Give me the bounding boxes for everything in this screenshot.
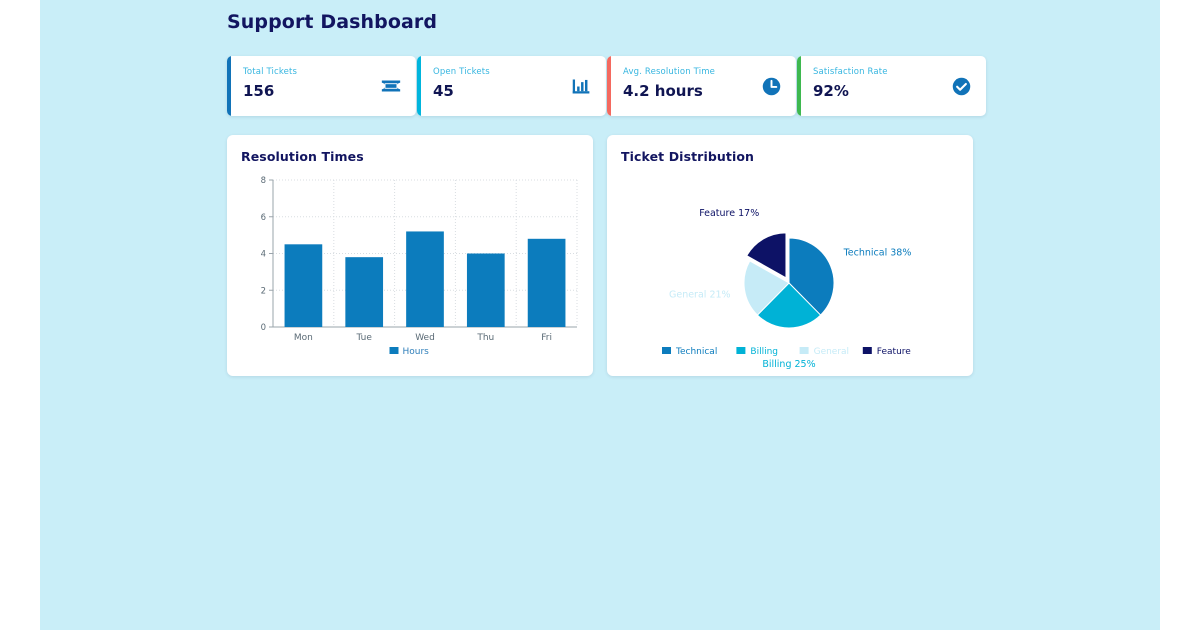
pie-chart[interactable]: Technical 38%Billing 25%General 21%Featu…: [607, 165, 973, 376]
pie-label-billing: Billing 25%: [762, 359, 815, 370]
svg-text:4: 4: [261, 250, 266, 260]
panel-resolution-times: Resolution Times 02468MonTueWedThuFriHou…: [227, 135, 593, 376]
clock-icon: [760, 75, 782, 97]
stat-card-avg-resolution-time[interactable]: Avg. Resolution Time 4.2 hours: [607, 56, 796, 116]
stat-card-open-tickets[interactable]: Open Tickets 45: [417, 56, 606, 116]
legend-label-technical: Technical: [675, 347, 717, 357]
svg-text:Mon: Mon: [294, 333, 313, 343]
legend-label-billing: Billing: [750, 347, 778, 357]
stat-value: 156: [243, 82, 274, 100]
ticket-icon: [380, 75, 402, 97]
bar-thu: [467, 254, 505, 328]
bar-tue: [345, 257, 383, 327]
dashboard-root: Support Dashboard Total Tickets 156 Open…: [40, 0, 1160, 630]
check-circle-icon: [950, 75, 972, 97]
pie-label-technical: Technical 38%: [843, 247, 912, 258]
stat-label: Satisfaction Rate: [813, 67, 888, 77]
svg-text:Wed: Wed: [415, 333, 435, 343]
legend-label-feature: Feature: [877, 347, 911, 357]
stat-value: 92%: [813, 82, 849, 100]
stat-card-total-tickets[interactable]: Total Tickets 156: [227, 56, 416, 116]
pie-label-general: General 21%: [669, 289, 731, 300]
svg-text:2: 2: [261, 286, 266, 296]
stat-value: 45: [433, 82, 454, 100]
stat-label: Total Tickets: [243, 67, 297, 77]
bar-mon: [285, 244, 323, 327]
legend-label-general: General: [814, 347, 849, 357]
bar-chart-icon: [570, 75, 592, 97]
card-accent-bar: [417, 56, 421, 116]
svg-text:Fri: Fri: [541, 333, 552, 343]
svg-text:Thu: Thu: [476, 333, 494, 343]
card-accent-bar: [607, 56, 611, 116]
bar-wed: [406, 231, 444, 327]
bar-chart[interactable]: 02468MonTueWedThuFriHours: [227, 165, 593, 376]
svg-text:8: 8: [261, 176, 266, 186]
stat-label: Avg. Resolution Time: [623, 67, 715, 77]
card-accent-bar: [227, 56, 231, 116]
panel-title: Resolution Times: [241, 149, 364, 164]
page-title: Support Dashboard: [227, 11, 437, 33]
pie-label-feature: Feature 17%: [699, 208, 759, 219]
card-accent-bar: [797, 56, 801, 116]
svg-text:6: 6: [261, 213, 266, 223]
svg-text:Tue: Tue: [356, 333, 373, 343]
svg-text:Hours: Hours: [403, 347, 430, 357]
panel-title: Ticket Distribution: [621, 149, 754, 164]
panel-ticket-distribution: Ticket Distribution Technical 38%Billing…: [607, 135, 973, 376]
svg-text:0: 0: [261, 323, 266, 333]
stat-value: 4.2 hours: [623, 82, 703, 100]
bar-fri: [528, 239, 566, 327]
stat-card-satisfaction-rate[interactable]: Satisfaction Rate 92%: [797, 56, 986, 116]
stat-label: Open Tickets: [433, 67, 490, 77]
